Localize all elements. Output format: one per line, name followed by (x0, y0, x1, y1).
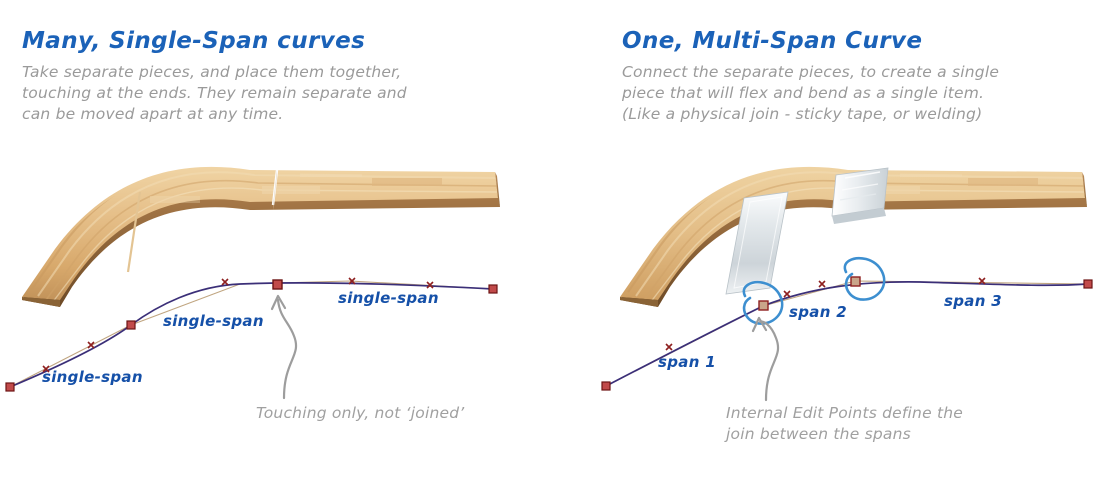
left-span-label-3: single-span (338, 289, 439, 307)
left-panel-title: Many, Single-Span curves (22, 28, 365, 54)
left-span-label-2: single-span (163, 312, 264, 330)
right-caption: Internal Edit Points define the join bet… (726, 403, 963, 445)
right-panel-title: One, Multi-Span Curve (622, 28, 922, 54)
right-span-label-2: span 2 (789, 303, 847, 321)
right-panel-body: Connect the separate pieces, to create a… (622, 62, 1082, 125)
diagram-canvas: Many, Single-Span curves Take separate p… (0, 0, 1100, 500)
left-span-label-1: single-span (42, 368, 143, 386)
left-caption: Touching only, not ‘joined’ (256, 403, 464, 424)
right-span-label-1: span 1 (658, 353, 716, 371)
left-panel-body: Take separate pieces, and place them tog… (22, 62, 492, 125)
right-span-label-3: span 3 (944, 292, 1002, 310)
panel-single-span: Many, Single-Span curves Take separate p… (0, 0, 550, 500)
